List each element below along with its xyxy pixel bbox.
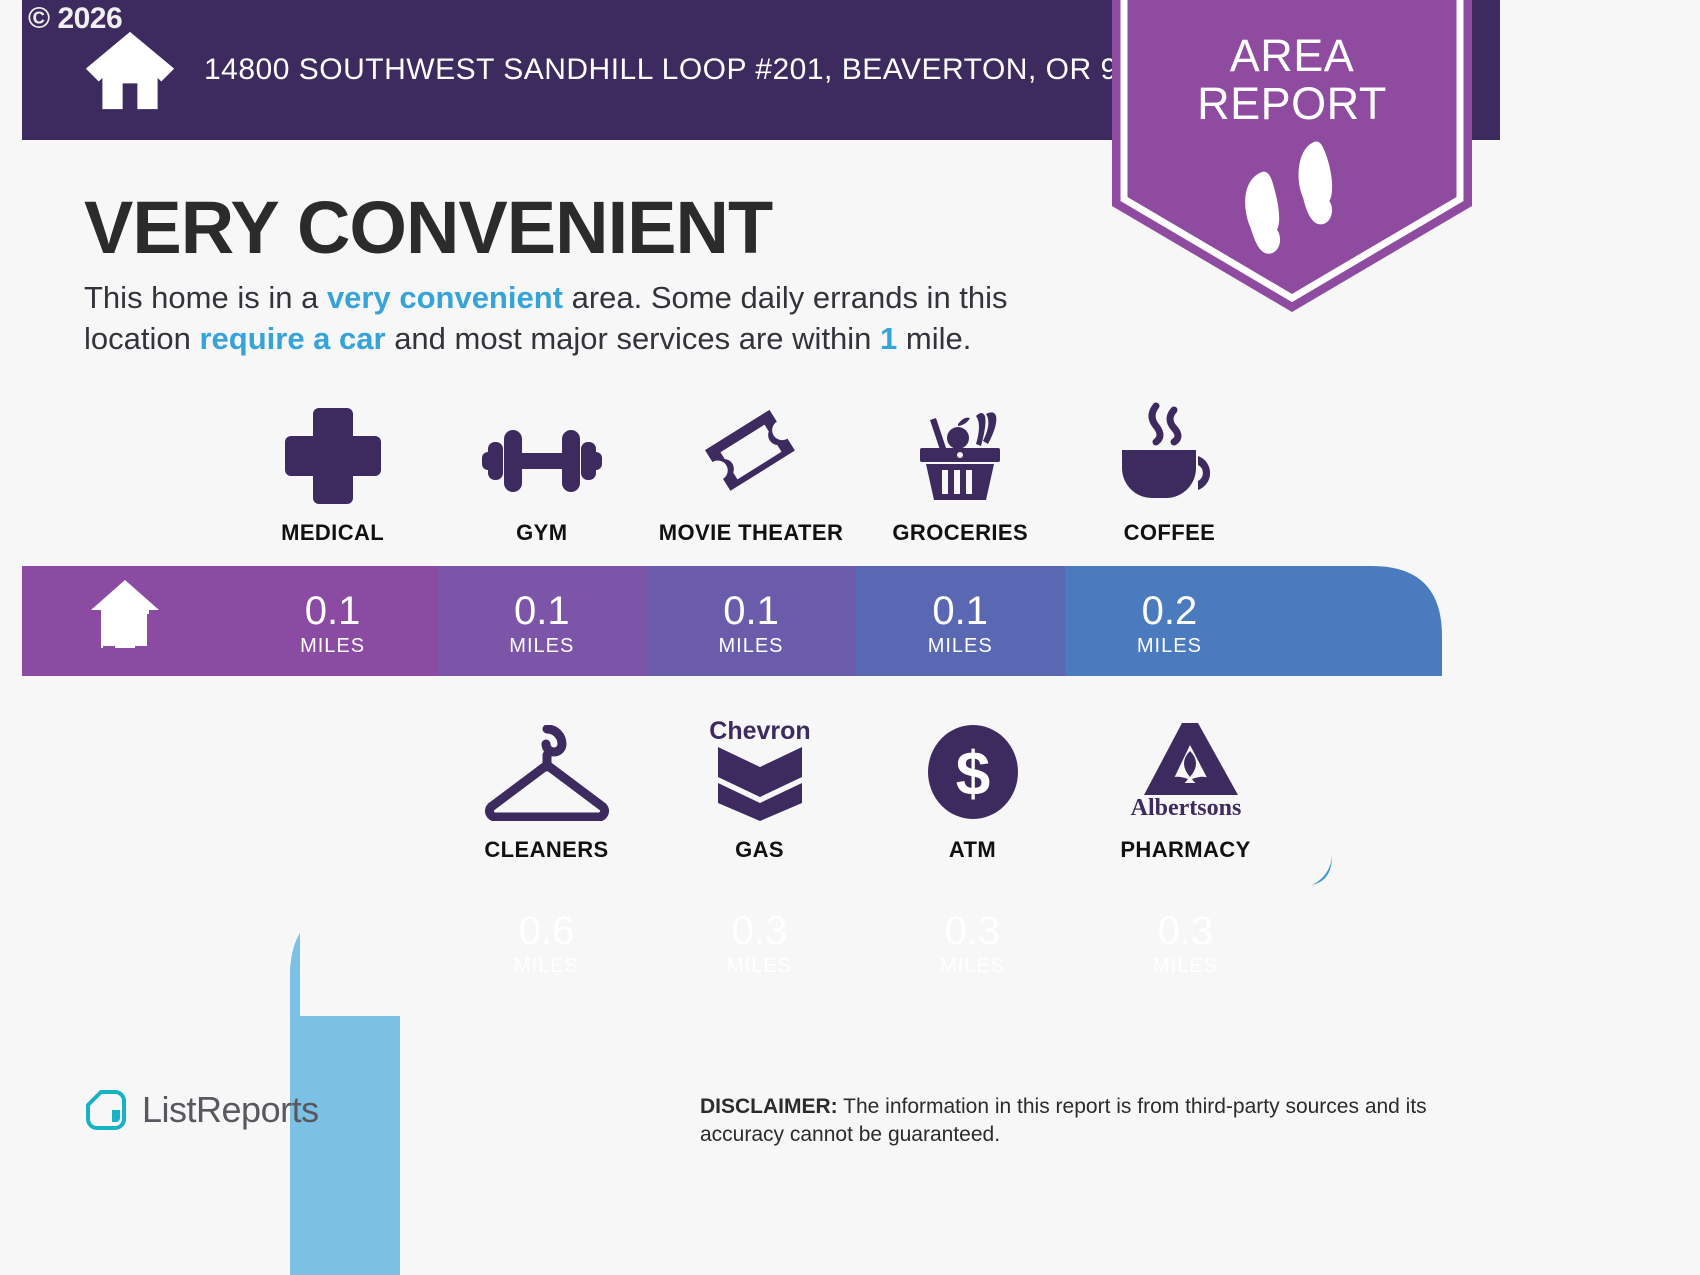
grocery-basket-icon — [906, 408, 1014, 504]
distance-cell: 0.1 MILES — [437, 586, 646, 662]
amenity-pharmacy: Albertsons PHARMACY — [1079, 725, 1292, 863]
amenity-gym: GYM — [437, 408, 646, 546]
distance-cell: 0.3 MILES — [1079, 906, 1292, 982]
amenity-label: MEDICAL — [281, 520, 384, 546]
listreports-wordmark: ListReports — [142, 1089, 319, 1131]
distance-cell: 0.1 MILES — [856, 586, 1065, 662]
page-title: VERY CONVENIENT — [84, 185, 772, 270]
amenity-groceries: GROCERIES — [856, 408, 1065, 546]
distance-unit: MILES — [727, 955, 792, 978]
medical-cross-icon — [283, 408, 383, 504]
svg-text:$: $ — [955, 740, 989, 809]
amenity-label: GROCERIES — [892, 520, 1028, 546]
disclaimer-text: DISCLAIMER: The information in this repo… — [700, 1093, 1500, 1150]
row2-distance-list: 0.6 MILES 0.3 MILES 0.3 MILES 0.3 MILES — [440, 906, 1292, 982]
amenity-gas: Chevron GAS — [653, 725, 866, 863]
distance-unit: MILES — [928, 635, 993, 658]
copyright-label: © 2026 — [28, 2, 122, 36]
amenity-label: CLEANERS — [484, 837, 608, 863]
distance-cell: 0.6 MILES — [440, 906, 653, 982]
dollar-circle-icon: $ — [925, 725, 1021, 821]
svg-text:Chevron: Chevron — [709, 717, 810, 745]
home-icon — [84, 30, 176, 111]
distance-value: 0.3 — [945, 911, 1001, 951]
albertsons-logo-icon: Albertsons — [1126, 725, 1246, 821]
amenity-movie-theater: MOVIE THEATER — [646, 408, 855, 546]
summary-highlight-1: very convenient — [327, 280, 563, 315]
distance-value: 0.6 — [519, 911, 575, 951]
listreports-logo[interactable]: ListReports — [84, 1088, 319, 1132]
row1-icon-list: MEDICAL GYM MOVIE THEATER — [228, 408, 1274, 546]
summary-part-4: mile. — [897, 321, 971, 356]
distance-unit: MILES — [940, 955, 1005, 978]
amenity-label: ATM — [949, 837, 996, 863]
distance-unit: MILES — [509, 635, 574, 658]
row2-icon-list: CLEANERS Chevron GAS $ ATM — [440, 725, 1292, 863]
amenity-label: MOVIE THEATER — [659, 520, 843, 546]
distance-cell: 0.1 MILES — [646, 586, 855, 662]
badge-line-2: REPORT — [1112, 80, 1472, 128]
distance-value: 0.1 — [723, 591, 779, 631]
coffee-cup-icon — [1114, 408, 1224, 504]
listreports-house-icon — [84, 1088, 128, 1132]
amenity-label: COFFEE — [1124, 520, 1216, 546]
distance-value: 0.1 — [305, 591, 361, 631]
dumbbell-icon — [482, 408, 602, 504]
badge-text: AREA REPORT — [1112, 32, 1472, 127]
amenity-label: GYM — [516, 520, 567, 546]
amenity-coffee: COFFEE — [1065, 408, 1274, 546]
amenity-cleaners: CLEANERS — [440, 725, 653, 863]
amenity-label: PHARMACY — [1120, 837, 1250, 863]
clothes-hanger-icon — [481, 725, 613, 821]
summary-highlight-3: 1 — [880, 321, 897, 356]
summary-part-1: This home is in a — [84, 280, 327, 315]
distance-unit: MILES — [718, 635, 783, 658]
summary-highlight-2: require a car — [199, 321, 385, 356]
amenity-label: GAS — [735, 837, 784, 863]
distance-cell: 0.1 MILES — [228, 586, 437, 662]
distance-value: 0.2 — [1142, 591, 1198, 631]
distance-value: 0.1 — [514, 591, 570, 631]
disclaimer-label: DISCLAIMER: — [700, 1095, 838, 1118]
summary-part-3: and most major services are within — [386, 321, 880, 356]
distance-value: 0.3 — [1158, 911, 1214, 951]
area-report-badge: AREA REPORT — [1112, 0, 1472, 314]
distance-unit: MILES — [1153, 955, 1218, 978]
distance-value: 0.1 — [932, 591, 988, 631]
distance-cell: 0.2 MILES — [1065, 586, 1274, 662]
row1-distance-list: 0.1 MILES 0.1 MILES 0.1 MILES 0.1 MILES … — [228, 586, 1274, 662]
svg-text:Albertsons: Albertsons — [1130, 795, 1241, 821]
ticket-icon — [699, 408, 803, 504]
badge-line-1: AREA — [1112, 32, 1472, 80]
amenity-atm: $ ATM — [866, 725, 1079, 863]
distance-cell: 0.3 MILES — [653, 906, 866, 982]
distance-unit: MILES — [1137, 635, 1202, 658]
distance-unit: MILES — [300, 635, 365, 658]
distance-value: 0.3 — [732, 911, 788, 951]
property-address: 14800 SOUTHWEST SANDHILL LOOP #201, BEAV… — [204, 51, 1186, 89]
distance-cell: 0.3 MILES — [866, 906, 1079, 982]
summary-text: This home is in a very convenient area. … — [84, 277, 1094, 359]
amenity-medical: MEDICAL — [228, 408, 437, 546]
chevron-logo-icon: Chevron — [708, 725, 812, 821]
distance-unit: MILES — [514, 955, 579, 978]
